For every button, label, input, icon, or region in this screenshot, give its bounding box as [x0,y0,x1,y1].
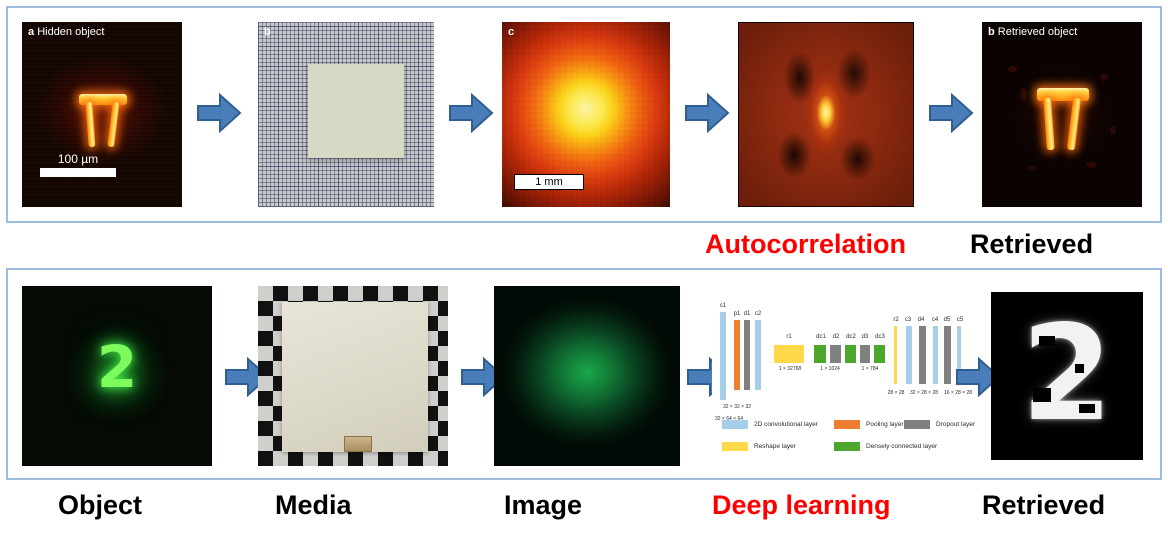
caption-object: Object [58,490,142,520]
nn-label-c5: c5 [950,317,970,324]
nn-layer-d4 [919,326,926,384]
object-digit-glyph: 2 [22,338,212,396]
arrow-media-to-speckle [448,90,494,136]
nn-layer-d3 [860,345,870,363]
sample-holder-clip [344,436,372,452]
nn-layer-c1 [720,312,726,400]
pi-right-leg [1067,97,1081,149]
pi-right-leg [107,102,120,147]
panel-autocorrelation [738,22,914,207]
caption-deep-learning: Deep learning [712,490,891,520]
legend-label-dense: Densely connected layer [866,442,937,451]
nn-layer-p1 [734,320,740,390]
digit-artifact [1075,364,1084,373]
diffuse-green-intensity [494,286,680,466]
nn-layer-c4 [933,326,938,384]
nn-label-c2: c2 [747,311,769,318]
legend-label-conv: 2D convolutional layer [754,420,818,429]
scalebar-1mm: 1 mm [514,174,584,190]
noise-speck [1020,88,1027,101]
legend-swatch-dropout [904,420,930,429]
digit-artifact [1039,336,1055,346]
noise-speck [1028,166,1036,171]
white-media-slab [282,302,428,452]
nn-dim-1x32768: 1 × 32768 [770,366,810,372]
nn-layer-r2 [894,326,897,384]
caption-retrieved-row1: Retrieved [970,229,1093,259]
panel-label-b-media: b [264,26,271,38]
caption-image: Image [504,490,582,520]
nn-label-c1: c1 [712,303,734,310]
panel-object-digit: 2 [22,286,212,466]
caption-retrieved-row2: Retrieved [982,490,1105,520]
panel-retrieved-digit: 2 [991,292,1143,460]
arrow-autocorrelation-to-retrieved [928,90,974,136]
nn-dim-32x32x32: 32 × 32 × 32 [708,404,766,410]
panel-image-blob [494,286,680,466]
noise-speck [1110,126,1116,135]
noise-speck [1086,162,1097,168]
noise-speck [1100,74,1108,81]
caption-autocorrelation: Autocorrelation [705,229,906,259]
panel-cnn-architecture: c1 p1 d1 c2 32 × 32 × 32 32 × 64 × 64 r1… [712,296,964,466]
nn-layer-dc2 [845,345,856,363]
legend-label-dropout: Dropout layer [936,420,975,429]
noise-speck [1008,66,1017,72]
scalebar-bar [40,168,116,177]
arrow-speckle-to-autocorrelation [684,90,730,136]
retrieved-digit-glyph: 2 [991,308,1143,440]
scalebar-100um: 100 µm [40,152,116,177]
panel-speckle-image: c 1 mm [502,22,670,207]
legend-swatch-pool [834,420,860,429]
nn-layer-d5 [944,326,951,384]
nn-layer-d1 [744,320,750,390]
panel-label-c: c [508,26,514,38]
digit-artifact [1033,388,1051,402]
media-sample-square [308,64,404,158]
autocorrelation-frame [738,22,914,207]
pi-left-leg [85,102,95,147]
panel-retrieved-object: b Retrieved object [982,22,1142,207]
nn-dim-1x1024: 1 × 1024 [812,366,848,372]
legend-label-pool: Pooling layer [866,420,904,429]
legend-swatch-dense [834,442,860,451]
nn-layer-dc3 [874,345,885,363]
panel-scattering-media: b [258,22,434,207]
nn-label-r1: r1 [774,334,804,341]
digit-artifact [1079,404,1095,413]
panel-label-a: a Hidden object [28,26,104,38]
nn-layer-r1 [774,345,804,363]
pi-symbol [79,94,127,146]
nn-layer-c3 [906,326,912,384]
arrow-object-to-media [196,90,242,136]
legend-swatch-reshape [722,442,748,451]
pi-left-leg [1044,97,1055,149]
legend-swatch-conv [722,420,748,429]
nn-layer-c2 [755,320,761,390]
legend-label-reshape: Reshape layer [754,442,796,451]
panel-hidden-object: a Hidden object 100 µm [22,22,182,207]
caption-media: Media [275,490,352,520]
panel-media-sample [258,286,448,466]
nn-layer-dc1 [814,345,826,363]
figure-root: a Hidden object 100 µm b c 1 mm [0,0,1168,544]
nn-dim-1x784: 1 × 784 [852,366,888,372]
panel-label-b-retrieved: b Retrieved object [988,26,1077,38]
nn-label-dc3: dc3 [870,334,890,341]
retrieved-pi-symbol [1037,88,1089,148]
nn-layer-d2 [830,345,841,363]
